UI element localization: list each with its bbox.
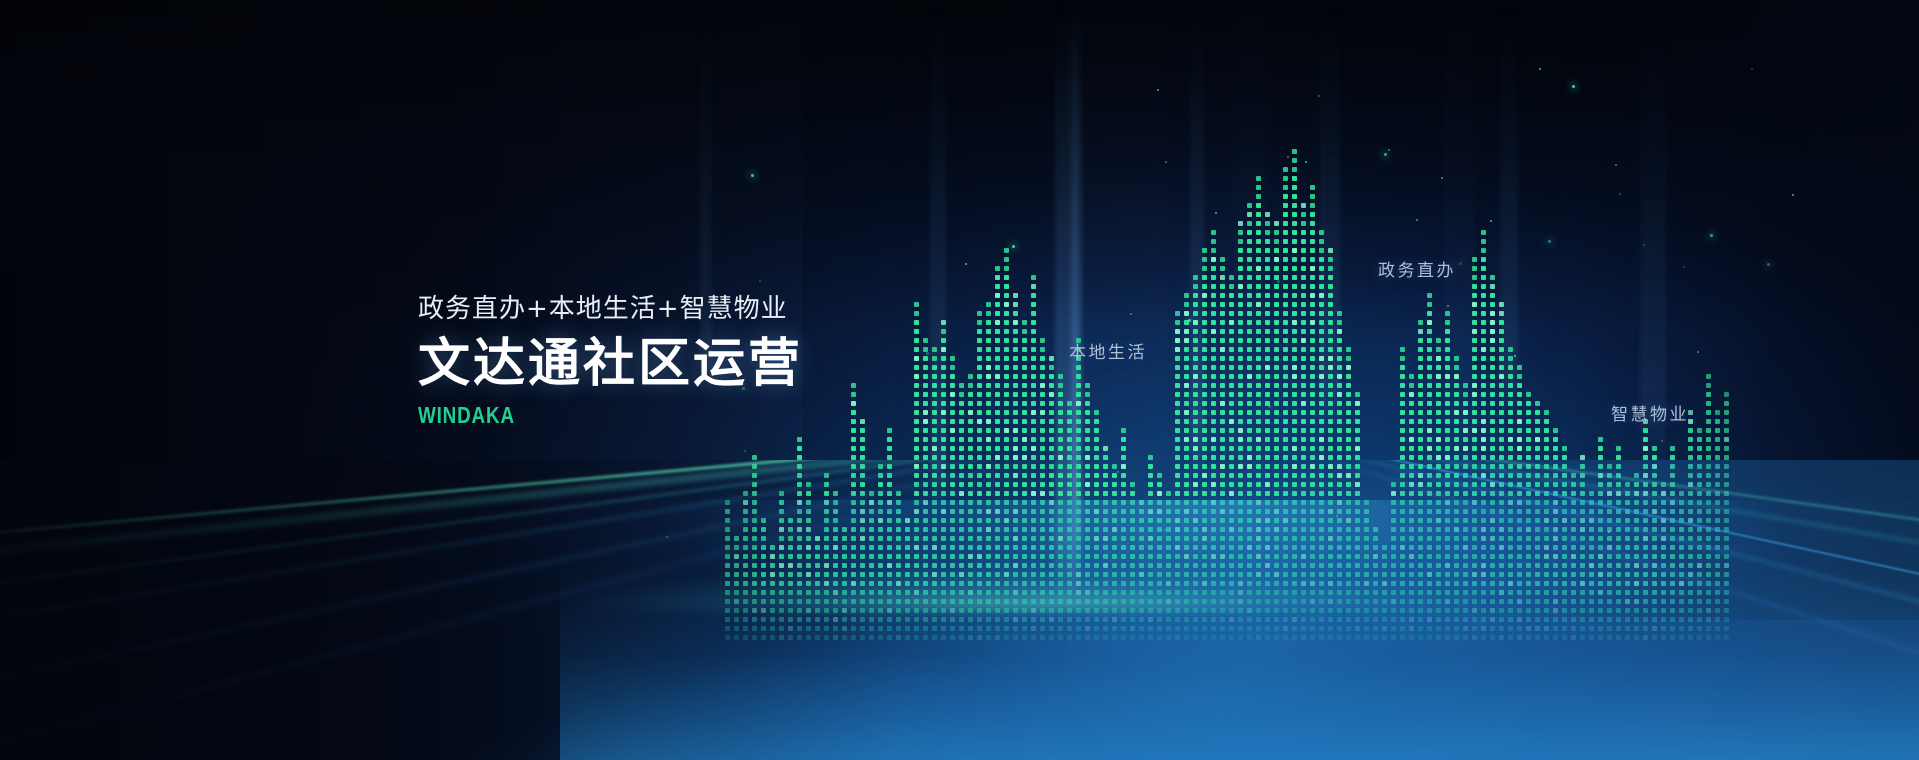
- skyline-dot: [1184, 293, 1189, 298]
- skyline-dot: [887, 428, 892, 433]
- skyline-dot: [1004, 419, 1009, 424]
- skyline-dot: [1265, 356, 1270, 361]
- skyline-dot: [1085, 383, 1090, 388]
- skyline-dot: [1229, 392, 1234, 397]
- skyline-dot: [1274, 221, 1279, 226]
- skyline-dot: [1247, 320, 1252, 325]
- skyline-dot: [887, 437, 892, 442]
- skyline-dot: [1031, 446, 1036, 451]
- skyline-dot: [1256, 239, 1261, 244]
- skyline-dot: [1427, 293, 1432, 298]
- skyline-dot: [851, 392, 856, 397]
- skyline-dot: [1229, 302, 1234, 307]
- skyline-dot: [1238, 392, 1243, 397]
- skyline-dot: [1004, 311, 1009, 316]
- skyline-dot: [1283, 356, 1288, 361]
- skyline-dot: [1328, 446, 1333, 451]
- skyline-dot: [1301, 356, 1306, 361]
- skyline-dot: [1004, 284, 1009, 289]
- skyline-dot: [1040, 356, 1045, 361]
- skyline-dot: [1445, 401, 1450, 406]
- skyline-dot: [995, 311, 1000, 316]
- skyline-dot: [1175, 419, 1180, 424]
- skyline-dot: [1301, 203, 1306, 208]
- skyline-dot: [1310, 437, 1315, 442]
- skyline-dot: [1337, 338, 1342, 343]
- skyline-dot: [1022, 446, 1027, 451]
- skyline-dot: [1238, 320, 1243, 325]
- skyline-dot: [1031, 311, 1036, 316]
- skyline-dot: [1211, 392, 1216, 397]
- skyline-dot: [1256, 401, 1261, 406]
- sparkle-particle: [1416, 219, 1418, 221]
- skyline-dot: [1553, 446, 1558, 451]
- skyline-dot: [1724, 428, 1729, 433]
- skyline-dot: [1040, 401, 1045, 406]
- skyline-dot: [1454, 383, 1459, 388]
- skyline-dot: [1319, 239, 1324, 244]
- skyline-dot: [1454, 392, 1459, 397]
- skyline-dot: [1454, 446, 1459, 451]
- skyline-dot: [1481, 329, 1486, 334]
- skyline-dot: [1004, 428, 1009, 433]
- skyline-dot: [1229, 275, 1234, 280]
- skyline-dot: [1643, 428, 1648, 433]
- skyline-dot: [1049, 437, 1054, 442]
- skyline-dot: [1004, 437, 1009, 442]
- skyline-dot: [1328, 356, 1333, 361]
- skyline-dot: [1310, 356, 1315, 361]
- skyline-dot: [941, 356, 946, 361]
- skyline-dot: [1202, 266, 1207, 271]
- skyline-dot: [1328, 419, 1333, 424]
- skyline-dot: [1211, 347, 1216, 352]
- skyline-dot: [1211, 275, 1216, 280]
- skyline-dot: [1724, 392, 1729, 397]
- skyline-dot: [1211, 230, 1216, 235]
- skyline-dot: [1211, 239, 1216, 244]
- skyline-dot: [1220, 329, 1225, 334]
- skyline-dot: [977, 311, 982, 316]
- skyline-dot: [1346, 383, 1351, 388]
- skyline-dot: [1445, 446, 1450, 451]
- skyline-dot: [1220, 428, 1225, 433]
- skyline-dot: [1301, 266, 1306, 271]
- skyline-dot: [1193, 302, 1198, 307]
- sparkle-particle: [1459, 262, 1462, 265]
- skyline-dot: [1490, 446, 1495, 451]
- skyline-dot: [1193, 338, 1198, 343]
- skyline-dot: [1184, 437, 1189, 442]
- skyline-dot: [1193, 410, 1198, 415]
- sparkle-particle: [1268, 405, 1271, 408]
- skyline-dot: [1310, 203, 1315, 208]
- skyline-dot: [1535, 437, 1540, 442]
- skyline-dot: [851, 401, 856, 406]
- skyline-dot: [932, 374, 937, 379]
- skyline-dot: [1472, 356, 1477, 361]
- skyline-dot: [1346, 401, 1351, 406]
- skyline-dot: [1247, 356, 1252, 361]
- skyline-dot: [1283, 419, 1288, 424]
- skyline-dot: [1004, 266, 1009, 271]
- skyline-dot: [1337, 374, 1342, 379]
- skyline-dot: [1031, 329, 1036, 334]
- skyline-dot: [1175, 311, 1180, 316]
- skyline-dot: [1292, 446, 1297, 451]
- skyline-dot: [1238, 293, 1243, 298]
- sparkle-particle: [1615, 164, 1617, 166]
- skyline-dot: [932, 365, 937, 370]
- skyline-dot: [1220, 275, 1225, 280]
- skyline-dot: [995, 338, 1000, 343]
- skyline-dot: [1418, 320, 1423, 325]
- skyline-dot: [1436, 365, 1441, 370]
- skyline-dot: [1274, 446, 1279, 451]
- skyline-dot: [1400, 392, 1405, 397]
- skyline-dot: [1346, 428, 1351, 433]
- skyline-dot: [986, 338, 991, 343]
- skyline-dot: [1535, 401, 1540, 406]
- skyline-dot: [1283, 185, 1288, 190]
- skyline-dot: [1301, 302, 1306, 307]
- skyline-dot: [1022, 428, 1027, 433]
- skyline-dot: [1418, 410, 1423, 415]
- skyline-dot: [1310, 401, 1315, 406]
- sparkle-particle: [1697, 351, 1699, 353]
- skyline-dot: [1211, 446, 1216, 451]
- skyline-dot: [1517, 401, 1522, 406]
- skyline-dot: [1301, 329, 1306, 334]
- skyline-dot: [797, 437, 802, 442]
- skyline-dot: [1004, 338, 1009, 343]
- skyline-dot: [1292, 158, 1297, 163]
- sparkle-particle: [666, 536, 668, 538]
- skyline-dot: [1121, 446, 1126, 451]
- skyline-dot: [1454, 374, 1459, 379]
- skyline-dot: [1400, 437, 1405, 442]
- skyline-dot: [1310, 311, 1315, 316]
- skyline-dot: [1337, 419, 1342, 424]
- skyline-dot: [1526, 419, 1531, 424]
- skyline-dot: [1328, 365, 1333, 370]
- skyline-dot: [1328, 410, 1333, 415]
- skyline-dot: [1202, 275, 1207, 280]
- skyline-dot: [1274, 347, 1279, 352]
- sparkle-particle: [1012, 245, 1015, 248]
- skyline-dot: [1247, 446, 1252, 451]
- skyline-dot: [977, 338, 982, 343]
- skyline-dot: [1265, 212, 1270, 217]
- skyline-dot: [1265, 437, 1270, 442]
- skyline-dot: [1031, 365, 1036, 370]
- skyline-dot: [1481, 401, 1486, 406]
- skyline-dot: [995, 293, 1000, 298]
- skyline-dot: [1274, 410, 1279, 415]
- skyline-dot: [1301, 293, 1306, 298]
- skyline-dot: [1301, 275, 1306, 280]
- skyline-dot: [1292, 266, 1297, 271]
- skyline-dot: [1643, 437, 1648, 442]
- skyline-dot: [1247, 212, 1252, 217]
- sparkle-particle: [744, 450, 746, 452]
- skyline-dot: [1310, 284, 1315, 289]
- skyline-dot: [1418, 437, 1423, 442]
- skyline-dot: [950, 356, 955, 361]
- skyline-dot: [1220, 437, 1225, 442]
- skyline-dot: [1310, 329, 1315, 334]
- skyline-dot: [1184, 446, 1189, 451]
- skyline-dot: [1184, 347, 1189, 352]
- skyline-dot: [1472, 311, 1477, 316]
- skyline-dot: [1508, 437, 1513, 442]
- skyline-dot: [1256, 365, 1261, 370]
- skyline-dot: [1049, 374, 1054, 379]
- sparkle-particle: [1608, 531, 1610, 533]
- skyline-dot: [1274, 293, 1279, 298]
- skyline-dot: [1346, 410, 1351, 415]
- hero-headline: 文达通社区运营: [418, 336, 803, 393]
- skyline-dot: [1238, 248, 1243, 253]
- skyline-dot: [1058, 446, 1063, 451]
- skyline-dot: [1418, 428, 1423, 433]
- skyline-dot: [1211, 311, 1216, 316]
- skyline-dot: [1193, 347, 1198, 352]
- skyline-dot: [1481, 419, 1486, 424]
- skyline-dot: [1049, 410, 1054, 415]
- skyline-dot: [1202, 293, 1207, 298]
- skyline-dot: [1283, 248, 1288, 253]
- skyline-dot: [1319, 275, 1324, 280]
- skyline-dot: [1265, 419, 1270, 424]
- skyline-dot: [1445, 311, 1450, 316]
- sparkle-particle: [1683, 266, 1685, 268]
- skyline-dot: [1517, 383, 1522, 388]
- skyline-dot: [1454, 419, 1459, 424]
- skyline-dot: [1238, 428, 1243, 433]
- skyline-dot: [1031, 356, 1036, 361]
- skyline-dot: [1040, 338, 1045, 343]
- skyline-dot: [1004, 446, 1009, 451]
- skyline-dot: [1445, 329, 1450, 334]
- skyline-dot: [1292, 293, 1297, 298]
- skyline-dot: [1463, 383, 1468, 388]
- skyline-dot: [1400, 365, 1405, 370]
- skyline-dot: [1247, 266, 1252, 271]
- skyline-dot: [1229, 338, 1234, 343]
- skyline-dot: [1499, 347, 1504, 352]
- skyline-dot: [1481, 239, 1486, 244]
- skyline-dot: [1337, 311, 1342, 316]
- skyline-dot: [1535, 446, 1540, 451]
- skyline-dot: [1292, 284, 1297, 289]
- skyline-dot: [1022, 356, 1027, 361]
- skyline-dot: [1265, 266, 1270, 271]
- skyline-dot: [1706, 410, 1711, 415]
- skyline-dot: [968, 428, 973, 433]
- skyline-dot: [950, 437, 955, 442]
- skyline-dot: [1274, 311, 1279, 316]
- skyline-dot: [1247, 230, 1252, 235]
- skyline-dot: [1301, 392, 1306, 397]
- skyline-dot: [1328, 383, 1333, 388]
- skyline-dot: [1022, 437, 1027, 442]
- skyline-dot: [1436, 374, 1441, 379]
- skyline-dot: [1490, 347, 1495, 352]
- skyline-dot: [1247, 428, 1252, 433]
- skyline-dot: [1409, 437, 1414, 442]
- skyline-dot: [932, 347, 937, 352]
- skyline-dot: [1490, 365, 1495, 370]
- skyline-dot: [1301, 257, 1306, 262]
- skyline-dot: [1058, 374, 1063, 379]
- skyline-dot: [995, 347, 1000, 352]
- skyline-dot: [1301, 338, 1306, 343]
- skyline-dot: [1085, 401, 1090, 406]
- skyline-dot: [1427, 446, 1432, 451]
- skyline-dot: [1256, 419, 1261, 424]
- skyline-dot: [1265, 320, 1270, 325]
- skyline-dot: [1256, 320, 1261, 325]
- skyline-dot: [1031, 401, 1036, 406]
- skyline-dot: [1355, 428, 1360, 433]
- skyline-dot: [1193, 365, 1198, 370]
- skyline-dot: [1274, 419, 1279, 424]
- skyline-dot: [1328, 302, 1333, 307]
- skyline-dot: [1283, 446, 1288, 451]
- skyline-dot: [1472, 284, 1477, 289]
- skyline-dot: [1472, 374, 1477, 379]
- skyline-dot: [1697, 446, 1702, 451]
- skyline-dot: [1022, 329, 1027, 334]
- skyline-dot: [1121, 437, 1126, 442]
- skyline-dot: [1337, 437, 1342, 442]
- skyline-dot: [914, 365, 919, 370]
- sparkle-particle: [1215, 212, 1217, 214]
- skyline-dot: [1211, 365, 1216, 370]
- skyline-dot: [968, 410, 973, 415]
- sparkle-particle: [1277, 280, 1280, 283]
- skyline-dot: [1310, 266, 1315, 271]
- skyline-dot: [1283, 194, 1288, 199]
- skyline-dot: [1481, 374, 1486, 379]
- skyline-dot: [1031, 383, 1036, 388]
- skyline-dot: [1427, 401, 1432, 406]
- skyline-dot: [1598, 446, 1603, 451]
- skyline-dot: [1481, 428, 1486, 433]
- skyline-dot: [1319, 311, 1324, 316]
- skyline-dot: [1292, 419, 1297, 424]
- skyline-dot: [1211, 437, 1216, 442]
- skyline-dot: [1292, 212, 1297, 217]
- skyline-dot: [1031, 293, 1036, 298]
- skyline-dot: [1328, 338, 1333, 343]
- skyline-dot: [1238, 419, 1243, 424]
- skyline-dot: [941, 410, 946, 415]
- skyline-dot: [977, 365, 982, 370]
- skyline-dot: [1031, 275, 1036, 280]
- skyline-dot: [1301, 401, 1306, 406]
- skyline-dot: [1445, 428, 1450, 433]
- skyline-dot: [1499, 410, 1504, 415]
- skyline-dot: [995, 419, 1000, 424]
- skyline-dot: [1310, 230, 1315, 235]
- skyline-dot: [1049, 446, 1054, 451]
- skyline-dot: [1346, 437, 1351, 442]
- skyline-dot: [1211, 401, 1216, 406]
- skyline-dot: [1301, 428, 1306, 433]
- hero-text-block: 政务直办+本地生活+智慧物业 文达通社区运营 WINDAKA: [418, 294, 803, 429]
- skyline-dot: [1247, 392, 1252, 397]
- skyline-dot: [1211, 419, 1216, 424]
- skyline-dot: [914, 383, 919, 388]
- skyline-dot: [1508, 365, 1513, 370]
- skyline-dot: [977, 356, 982, 361]
- skyline-dot: [1301, 311, 1306, 316]
- skyline-dot: [1535, 428, 1540, 433]
- skyline-dot: [941, 437, 946, 442]
- skyline-dot: [1004, 320, 1009, 325]
- skyline-dot: [1427, 338, 1432, 343]
- skyline-dot: [977, 392, 982, 397]
- skyline-dot: [1004, 293, 1009, 298]
- skyline-dot: [1526, 401, 1531, 406]
- skyline-dot: [995, 410, 1000, 415]
- skyline-dot: [1724, 401, 1729, 406]
- skyline-dot: [1040, 383, 1045, 388]
- skyline-dot: [1076, 365, 1081, 370]
- skyline-dot: [1445, 347, 1450, 352]
- skyline-dot: [941, 383, 946, 388]
- skyline-dot: [1499, 311, 1504, 316]
- sparkle-particle: [1041, 429, 1043, 431]
- skyline-dot: [1706, 374, 1711, 379]
- skyline-dot: [977, 383, 982, 388]
- skyline-dot: [968, 419, 973, 424]
- skyline-dot: [1346, 347, 1351, 352]
- skyline-dot: [1220, 257, 1225, 262]
- skyline-dot: [1283, 230, 1288, 235]
- skyline-dot: [1481, 275, 1486, 280]
- skyline-dot: [1319, 401, 1324, 406]
- skyline-dot: [1004, 392, 1009, 397]
- skyline-dot: [1346, 356, 1351, 361]
- skyline-dot: [986, 428, 991, 433]
- skyline-dot: [1454, 437, 1459, 442]
- skyline-dot: [1094, 428, 1099, 433]
- skyline-dot: [1031, 374, 1036, 379]
- skyline-dot: [1472, 446, 1477, 451]
- skyline-dot: [1319, 446, 1324, 451]
- skyline-dot: [1247, 284, 1252, 289]
- skyline-dot: [1292, 401, 1297, 406]
- skyline-dot: [1319, 266, 1324, 271]
- skyline-dot: [1076, 410, 1081, 415]
- skyline-dot: [1355, 446, 1360, 451]
- skyline-dot: [1463, 401, 1468, 406]
- skyline-dot: [1274, 257, 1279, 262]
- skyline-dot: [1292, 257, 1297, 262]
- skyline-dot: [1715, 446, 1720, 451]
- skyline-dot: [1013, 347, 1018, 352]
- skyline-dot: [1220, 293, 1225, 298]
- skyline-dot: [1292, 338, 1297, 343]
- skyline-dot: [1040, 365, 1045, 370]
- skyline-dot: [1022, 320, 1027, 325]
- skyline-dot: [1481, 365, 1486, 370]
- skyline-dot: [1283, 428, 1288, 433]
- skyline-dot: [1256, 446, 1261, 451]
